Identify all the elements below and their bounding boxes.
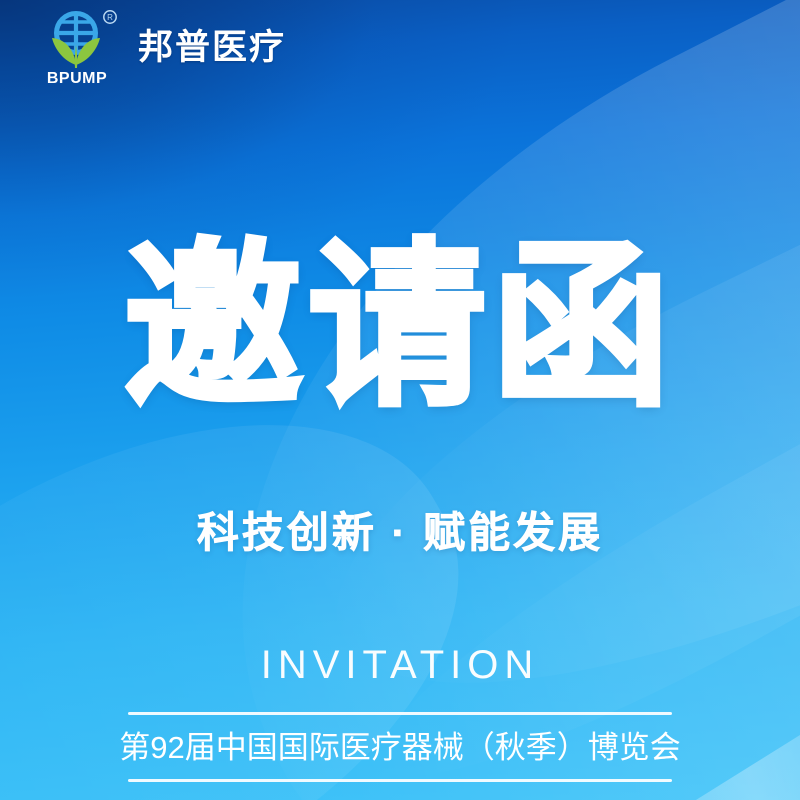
event-divider-top — [128, 712, 672, 715]
event-divider-bottom — [128, 779, 672, 782]
event-name: 第92届中国国际医疗器械（秋季）博览会 — [106, 715, 694, 779]
hero-content: 邀请函 科技创新 · 赋能发展 INVITATION — [0, 0, 800, 800]
company-name: 邦普医疗 — [138, 30, 286, 65]
hero-subtitle: 科技创新 · 赋能发展 — [0, 512, 800, 554]
hero-english-label: INVITATION — [0, 645, 800, 685]
invitation-poster: R BPUMP 邦普医疗 邀请函 科技创新 · 赋能发展 INVITATION … — [0, 0, 800, 800]
background-diagonal-sweep-top-right — [75, 0, 800, 800]
background-diagonal-sweep-secondary — [276, 40, 800, 797]
svg-text:R: R — [107, 13, 113, 22]
brand-lockup: R BPUMP 邦普医疗 — [44, 8, 286, 86]
event-banner: 第92届中国国际医疗器械（秋季）博览会 — [128, 712, 672, 782]
bpump-wordmark: BPUMP — [47, 70, 107, 86]
page-title: 邀请函 — [0, 238, 800, 416]
bpump-flower-logo-icon: R BPUMP — [44, 8, 122, 86]
registered-trademark-icon: R — [104, 11, 116, 23]
